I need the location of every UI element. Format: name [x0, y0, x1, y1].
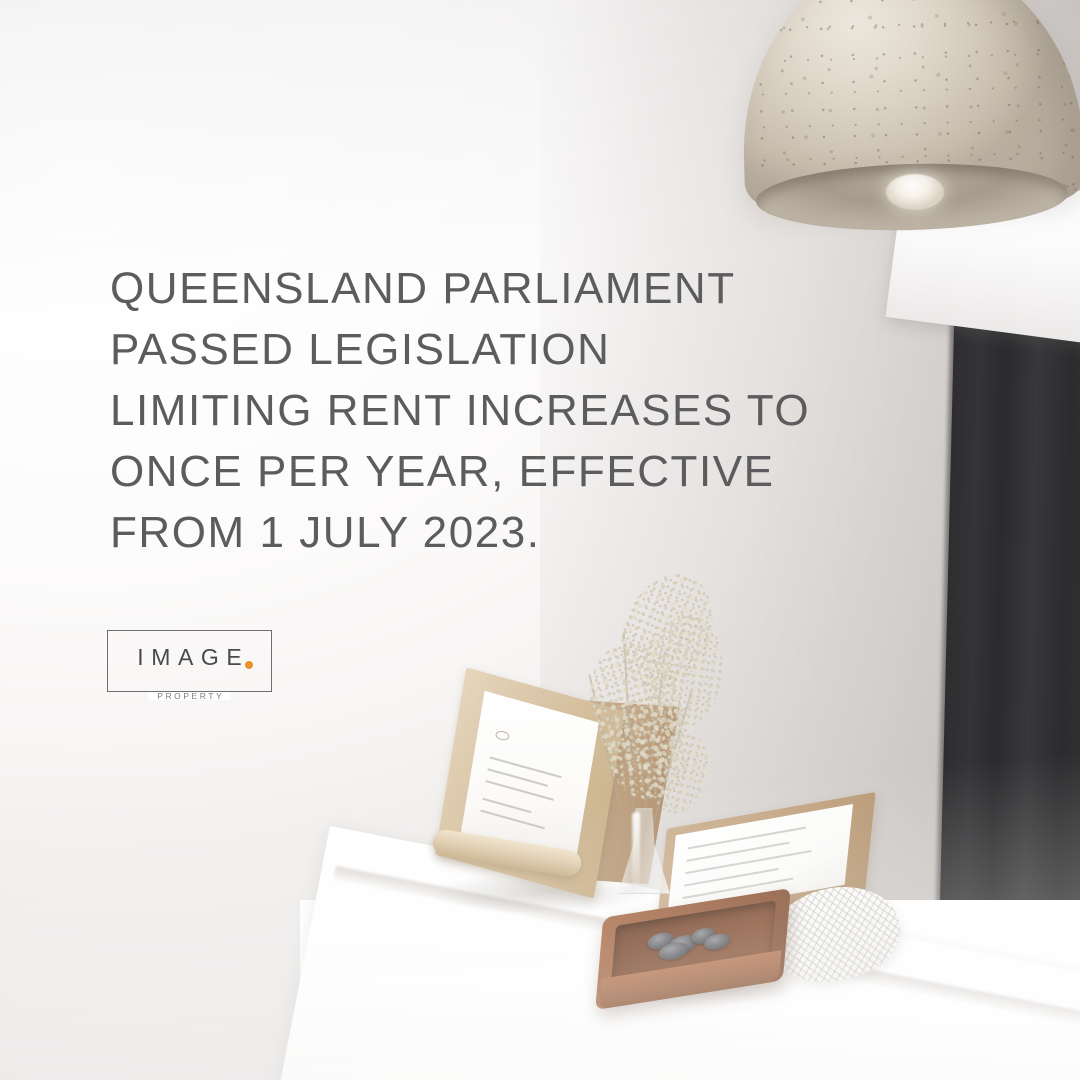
logo-dot-icon	[245, 661, 253, 669]
social-post-canvas: QUEENSLAND PARLIAMENT PASSED LEGISLATION…	[0, 0, 1080, 1080]
headline-text: QUEENSLAND PARLIAMENT PASSED LEGISLATION…	[110, 258, 870, 563]
image-property-logo: IMAGE PROPERTY	[107, 630, 272, 692]
logo-subtitle: PROPERTY	[148, 692, 232, 701]
logo-subtitle-wrap: PROPERTY	[108, 692, 271, 701]
